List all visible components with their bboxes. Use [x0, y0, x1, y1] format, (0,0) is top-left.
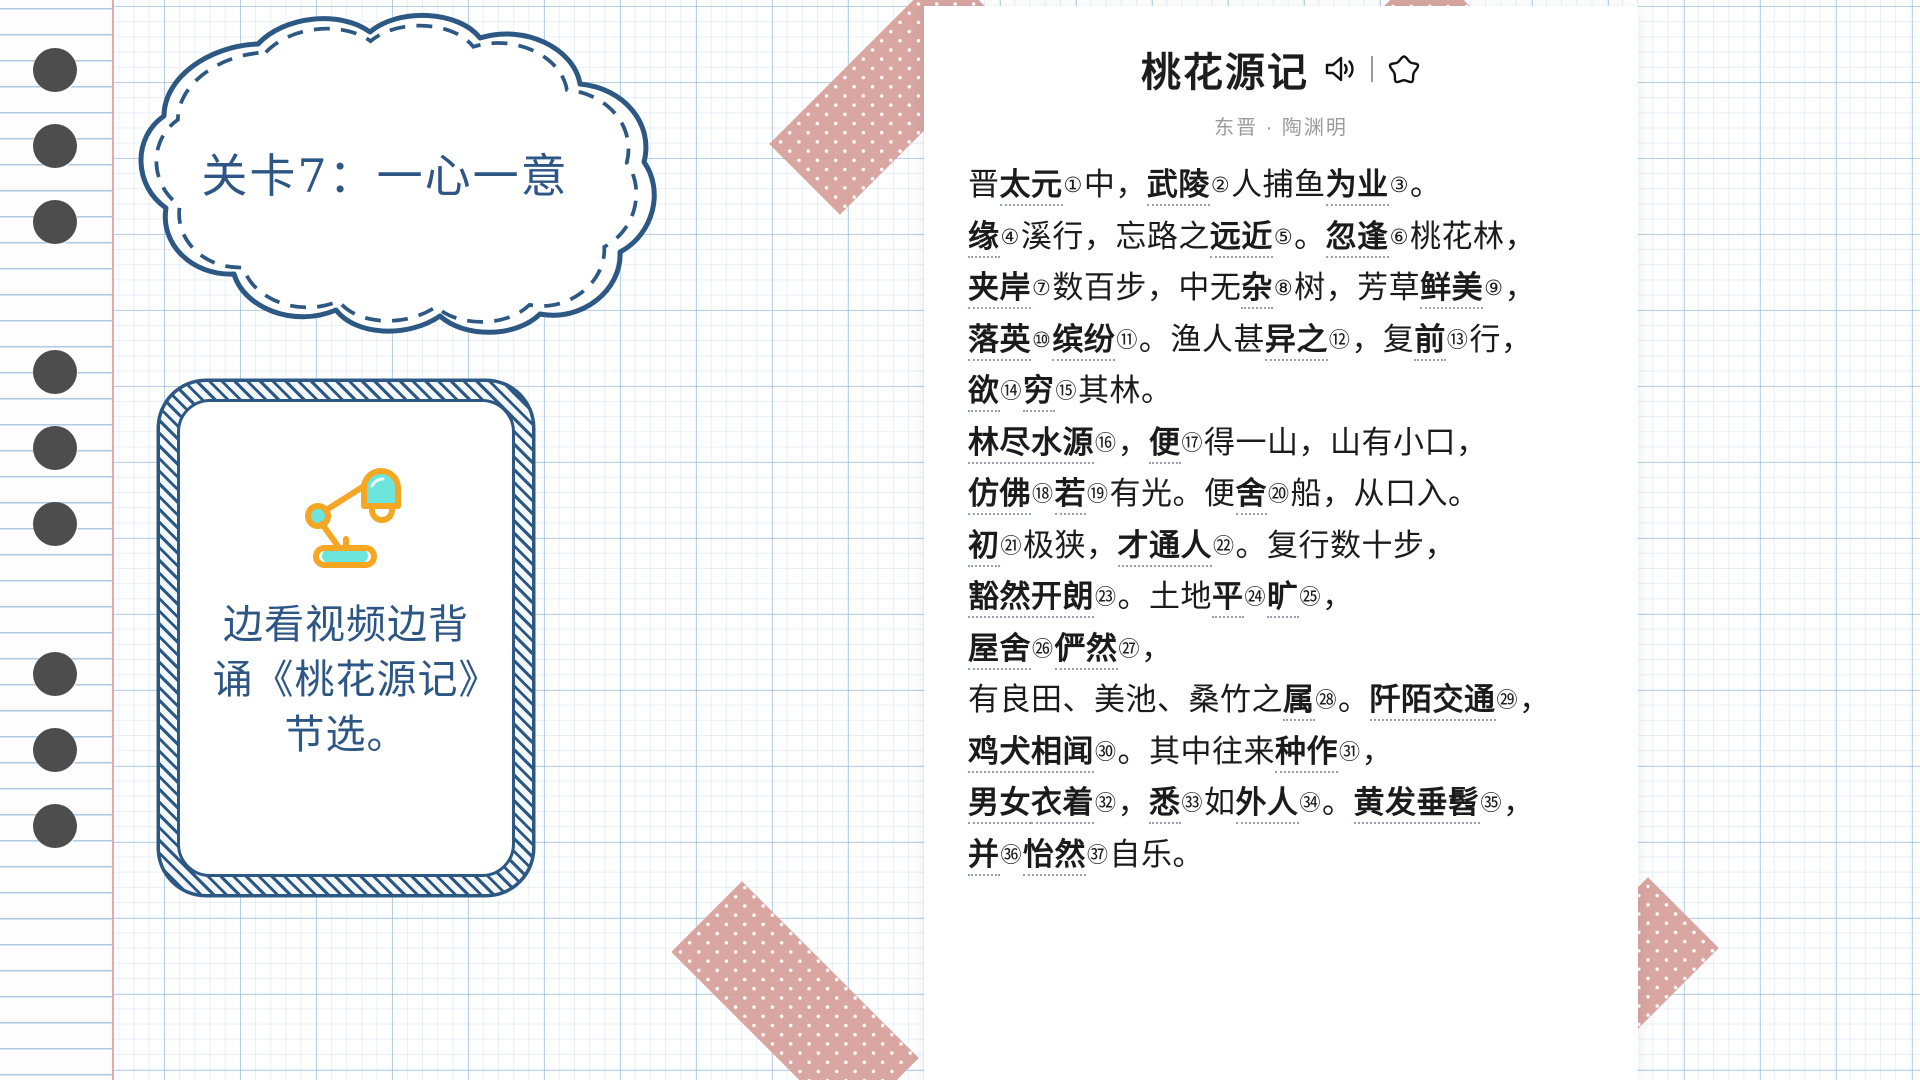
annotated-term: 欲 [968, 373, 1000, 412]
annotation-number: ㉝ [1181, 792, 1205, 815]
poem-text: 树，芳草 [1294, 270, 1420, 305]
binder-hole-7 [33, 652, 77, 696]
annotated-term: 若 [1055, 476, 1087, 515]
binder-hole-6 [33, 502, 77, 546]
poem-text: ， [1141, 631, 1173, 666]
poem-text: 有光。便 [1110, 476, 1236, 511]
annotation-number: ⑬ [1446, 329, 1470, 352]
annotated-term: 鲜美 [1420, 270, 1483, 309]
poem-title-row: 桃花源记 [924, 40, 1638, 98]
annotated-term: 缤纷 [1052, 322, 1115, 361]
poem-text: ， [1504, 270, 1536, 305]
poem-line: 林尽水源⑯，便⑰得一山，山有小口， [968, 418, 1638, 470]
poem-header: 桃花源记 东晋 · 陶渊明 [924, 6, 1638, 140]
poem-line: 欲⑭穷⑮其林。 [968, 366, 1638, 418]
annotated-term: 俨然 [1055, 631, 1118, 670]
poem-text: 有良田、美池、桑竹之 [968, 682, 1283, 717]
annotation-number: ⑦ [1031, 277, 1052, 300]
annotation-number: ⑫ [1328, 329, 1352, 352]
poem-line: 有良田、美池、桑竹之属㉘。阡陌交通㉙， [968, 675, 1638, 727]
annotated-term: 为业 [1326, 167, 1389, 206]
annotation-number: ③ [1389, 174, 1410, 197]
annotated-term: 种作 [1275, 734, 1338, 773]
speaker-icon[interactable] [1323, 54, 1357, 84]
annotation-number: ② [1210, 174, 1231, 197]
annotated-term: 衣着 [1031, 785, 1094, 824]
annotation-number: ㉔ [1244, 586, 1268, 609]
poem-text: 晋 [968, 167, 1000, 202]
annotated-term: 便 [1149, 425, 1181, 464]
annotation-number: ㉚ [1094, 741, 1118, 764]
annotation-number: ㉛ [1338, 741, 1362, 764]
poem-text: ，复 [1351, 322, 1414, 357]
poem-line: 豁然开朗㉓。土地平㉔旷㉕， [968, 572, 1638, 624]
annotated-term: 林尽水源 [968, 425, 1094, 464]
annotated-term: 武陵 [1147, 167, 1210, 206]
annotation-number: ① [1063, 174, 1084, 197]
annotation-number: ⑨ [1483, 277, 1504, 300]
poem-text: 。复行数十步， [1236, 528, 1457, 563]
poem-text: 。 [1322, 785, 1354, 820]
poem-body: 晋太元①中，武陵②人捕鱼为业③。缘④溪行，忘路之远近⑤。忽逢⑥桃花林，夹岸⑦数百… [924, 140, 1638, 881]
annotated-term: 夹岸 [968, 270, 1031, 309]
annotated-term: 忽逢 [1326, 219, 1389, 258]
poem-text: ， [1118, 785, 1150, 820]
poem-line: 初㉑极狭，才通人㉒。复行数十步， [968, 521, 1638, 573]
annotation-number: ㉘ [1315, 689, 1339, 712]
poem-text: 如 [1204, 785, 1236, 820]
annotation-number: ㉖ [1031, 638, 1055, 661]
annotated-term: 落英 [968, 322, 1031, 361]
annotation-number: ⑲ [1086, 483, 1110, 506]
annotation-number: ⑪ [1115, 329, 1139, 352]
poem-text: 中， [1084, 167, 1147, 202]
task-card: 边看视频边背诵《桃花源记》节选。 [160, 382, 532, 894]
annotated-term: 前 [1414, 322, 1446, 361]
poem-text: 。 [1294, 219, 1326, 254]
poem-text: 数百步，中无 [1052, 270, 1241, 305]
annotation-number: ㉒ [1212, 535, 1236, 558]
annotated-term: 豁然开朗 [968, 579, 1094, 618]
poem-text: ， [1503, 785, 1535, 820]
annotated-term: 阡陌交通 [1370, 682, 1496, 721]
poem-text: 其林。 [1078, 373, 1173, 408]
annotated-term: 外人 [1236, 785, 1299, 824]
poem-text: 得一山，山有小口， [1204, 425, 1488, 460]
poem-author: 东晋 · 陶渊明 [924, 111, 1638, 140]
poem-text: 。 [1410, 167, 1442, 202]
annotation-number: ⑳ [1267, 483, 1291, 506]
poem-line: 仿佛⑱若⑲有光。便舍⑳船，从口入。 [968, 469, 1638, 521]
annotated-term: 旷 [1267, 579, 1299, 618]
annotated-term: 男女 [968, 785, 1031, 824]
poem-text: 自乐。 [1110, 837, 1205, 872]
poem-text: 桃花林， [1410, 219, 1536, 254]
annotated-term: 黄发垂髫 [1354, 785, 1480, 824]
level-title: 关卡7：一心一意 [88, 8, 668, 338]
binder-hole-8 [33, 728, 77, 772]
desk-lamp-icon [276, 436, 416, 576]
annotation-number: ㉜ [1094, 792, 1118, 815]
star-icon[interactable] [1387, 53, 1421, 85]
poem-line: 缘④溪行，忘路之远近⑤。忽逢⑥桃花林， [968, 212, 1638, 264]
annotation-number: ④ [1000, 226, 1021, 249]
annotation-number: ⑥ [1389, 226, 1410, 249]
poem-line: 男女衣着㉜，悉㉝如外人㉞。黄发垂髫㉟， [968, 778, 1638, 830]
annotated-term: 怡然 [1023, 837, 1086, 876]
annotated-term: 屋舍 [968, 631, 1031, 670]
annotated-term: 属 [1283, 682, 1315, 721]
binder-hole-5 [33, 426, 77, 470]
annotation-number: ⑱ [1031, 483, 1055, 506]
poem-line: 并㊱怡然㊲自乐。 [968, 830, 1638, 882]
annotated-term: 穷 [1023, 373, 1055, 412]
annotation-number: ⑤ [1273, 226, 1294, 249]
binder-hole-1 [33, 48, 77, 92]
annotation-number: ㉓ [1094, 586, 1118, 609]
poem-text: ， [1322, 579, 1354, 614]
annotated-term: 仿佛 [968, 476, 1031, 515]
poem-text: 。土地 [1118, 579, 1213, 614]
poem-text: 。 [1338, 682, 1370, 717]
poem-text: 船，从口入。 [1291, 476, 1480, 511]
poem-text: 行， [1469, 322, 1532, 357]
annotated-term: 平 [1212, 579, 1244, 618]
annotated-term: 舍 [1236, 476, 1268, 515]
annotation-number: ㉑ [1000, 535, 1024, 558]
annotation-number: ㉗ [1118, 638, 1142, 661]
annotated-term: 太元 [1000, 167, 1063, 206]
annotated-term: 鸡犬相闻 [968, 734, 1094, 773]
annotation-number: ㊱ [1000, 844, 1024, 867]
poem-title: 桃花源记 [1141, 40, 1309, 98]
poem-text: 。渔人甚 [1139, 322, 1265, 357]
poem-line: 夹岸⑦数百步，中无杂⑧树，芳草鲜美⑨， [968, 263, 1638, 315]
poem-text: 人捕鱼 [1231, 167, 1326, 202]
annotated-term: 才通人 [1118, 528, 1213, 567]
poem-text: 。其中往来 [1118, 734, 1276, 769]
binder-hole-2 [33, 124, 77, 168]
annotation-number: ⑰ [1181, 432, 1205, 455]
annotation-number: ⑮ [1055, 380, 1079, 403]
poem-line: 屋舍㉖俨然㉗， [968, 624, 1638, 676]
annotation-number: ⑭ [1000, 380, 1024, 403]
annotated-term: 初 [968, 528, 1000, 567]
poem-line: 鸡犬相闻㉚。其中往来种作㉛， [968, 727, 1638, 779]
annotation-number: ⑯ [1094, 432, 1118, 455]
poem-text: ， [1118, 425, 1150, 460]
annotation-number: ㉞ [1299, 792, 1323, 815]
poem-text: 溪行，忘路之 [1021, 219, 1210, 254]
poem-card: 桃花源记 东晋 · 陶渊明 晋太元①中，武陵②人捕鱼为业③。缘④溪行，忘路 [924, 6, 1638, 1080]
annotation-number: ㉕ [1299, 586, 1323, 609]
annotation-number: ㉟ [1480, 792, 1504, 815]
slide-canvas: 关卡7：一心一意 [0, 0, 1920, 1080]
poem-line: 晋太元①中，武陵②人捕鱼为业③。 [968, 160, 1638, 212]
annotated-term: 远近 [1210, 219, 1273, 258]
task-description: 边看视频边背诵《桃花源记》节选。 [180, 598, 512, 764]
task-card-inner: 边看视频边背诵《桃花源记》节选。 [177, 399, 515, 877]
poem-line: 落英⑩缤纷⑪。渔人甚异之⑫，复前⑬行， [968, 315, 1638, 367]
annotation-number: ㉙ [1496, 689, 1520, 712]
binder-hole-4 [33, 350, 77, 394]
icon-divider [1371, 56, 1373, 82]
poem-text: ， [1519, 682, 1551, 717]
annotated-term: 异之 [1265, 322, 1328, 361]
annotation-number: ⑩ [1031, 329, 1052, 352]
poem-text: 极狭， [1023, 528, 1118, 563]
annotated-term: 并 [968, 837, 1000, 876]
poem-text: ， [1362, 734, 1394, 769]
binder-hole-9 [33, 804, 77, 848]
binder-hole-3 [33, 200, 77, 244]
annotation-number: ⑧ [1273, 277, 1294, 300]
annotated-term: 杂 [1241, 270, 1273, 309]
cloud-bubble: 关卡7：一心一意 [88, 8, 668, 338]
annotated-term: 缘 [968, 219, 1000, 258]
annotated-term: 悉 [1149, 785, 1181, 824]
annotation-number: ㊲ [1086, 844, 1110, 867]
